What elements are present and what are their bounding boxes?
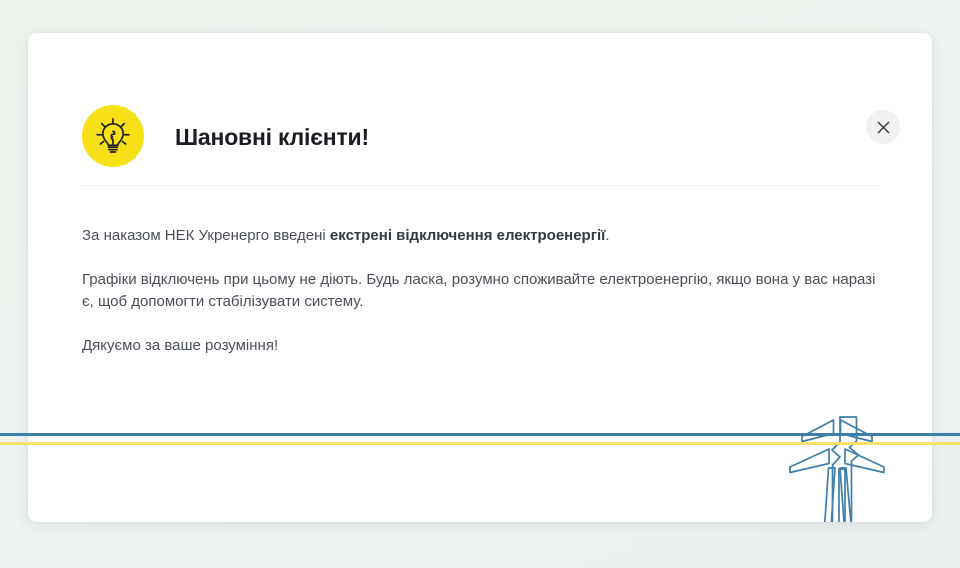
- power-pylon-icon: [776, 411, 904, 522]
- notice-paragraph-2: Графіки відключень при цьому не діють. Б…: [82, 269, 882, 313]
- lightbulb-icon: [82, 105, 144, 167]
- close-button[interactable]: [866, 110, 900, 144]
- modal-body: За наказом НЕК Укренерго введені екстрен…: [82, 225, 882, 357]
- paragraph-1-suffix: .: [605, 227, 609, 244]
- notice-modal: Шановні клієнти! За наказом НЕК Укренерг…: [28, 33, 932, 522]
- modal-header: Шановні клієнти!: [28, 33, 932, 185]
- paragraph-1-text: За наказом НЕК Укренерго введені: [82, 227, 330, 244]
- page-title: Шановні клієнти!: [175, 122, 369, 152]
- close-icon: [877, 121, 890, 134]
- notice-paragraph-3: Дякуємо за ваше розуміння!: [82, 335, 882, 357]
- header-divider: [82, 185, 878, 186]
- decor-line-yellow: [0, 442, 960, 445]
- decor-line-blue: [0, 433, 960, 436]
- notice-paragraph-1: За наказом НЕК Укренерго введені екстрен…: [82, 225, 882, 247]
- paragraph-1-emphasis: екстрені відключення електроенергії: [330, 227, 605, 244]
